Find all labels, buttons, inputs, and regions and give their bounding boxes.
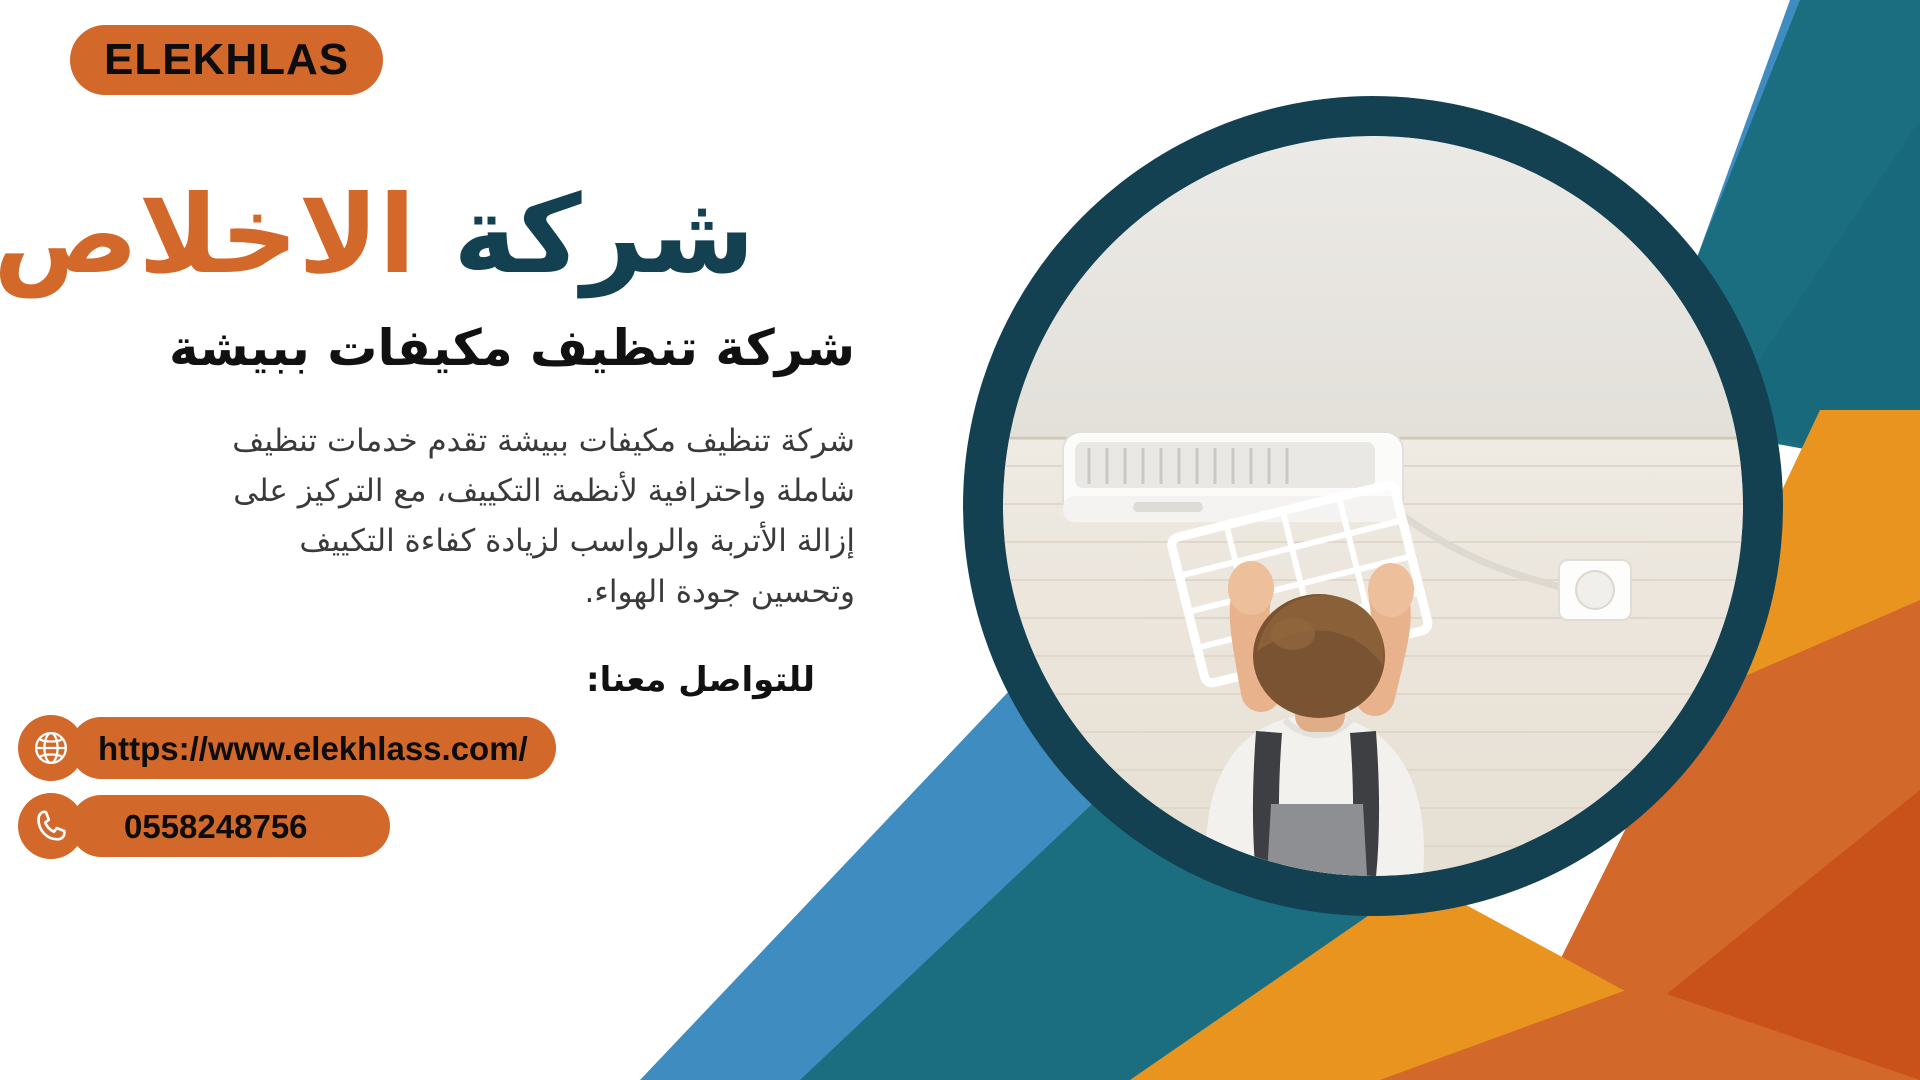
wall-socket (1559, 560, 1631, 620)
phone-icon (18, 793, 84, 859)
contact-row-phone[interactable]: 0558248756 (18, 793, 390, 859)
page-title-part2: الاخلاص (0, 173, 416, 298)
shape-orange-bottom (1380, 985, 1920, 1080)
logo-badge[interactable]: ELEKHLAS (70, 25, 383, 95)
website-pill[interactable]: https://www.elekhlass.com/ (70, 717, 556, 779)
promo-banner: ELEKHLAS شركة الاخلاص شركة تنظيف مكيفات … (0, 0, 1920, 1080)
globe-icon (18, 715, 84, 781)
hero-photo (1003, 136, 1743, 876)
page-title: شركة الاخلاص (0, 182, 755, 290)
page-title-part1: شركة (453, 173, 755, 298)
hero-photo-illustration (1003, 136, 1743, 876)
air-conditioner-unit (1063, 432, 1403, 522)
contact-label: للتواصل معنا: (586, 660, 815, 700)
phone-pill[interactable]: 0558248756 (70, 795, 390, 857)
phone-text: 0558248756 (124, 810, 308, 843)
body-paragraph: شركة تنظيف مكيفات ببيشة تقدم خدمات تنظيف… (190, 416, 855, 617)
contact-row-website[interactable]: https://www.elekhlass.com/ (18, 715, 556, 781)
logo-text: ELEKHLAS (104, 38, 349, 82)
hero-photo-ring (963, 96, 1783, 916)
page-subtitle: شركة تنظيف مكيفات ببيشة (169, 317, 855, 380)
content-column: ELEKHLAS شركة الاخلاص شركة تنظيف مكيفات … (0, 0, 960, 1080)
website-text: https://www.elekhlass.com/ (98, 732, 528, 765)
